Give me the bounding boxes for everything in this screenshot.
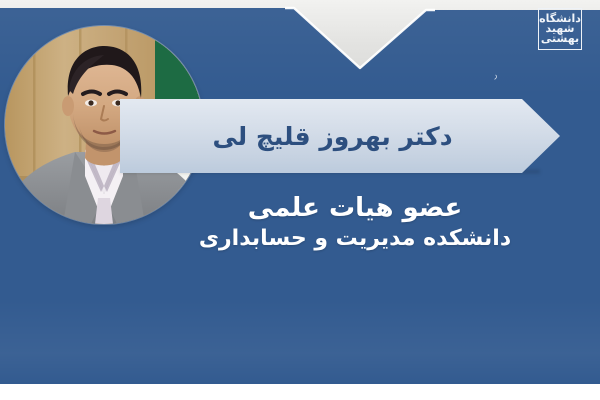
logo-square-frame: دانشگاه شهید بهشتی <box>538 8 582 50</box>
subtitle-faculty: دانشکده مدیریت و حسابداری <box>190 225 520 254</box>
svg-text:روابط عمومی و اطلاع رسانی: روابط عمومی و اطلاع رسانی <box>492 52 499 80</box>
profile-poster: دانشگاه شهید بهشتی روابط عمومی و اطلاع ر… <box>0 0 600 400</box>
university-logo: دانشگاه شهید بهشتی روابط عمومی و اطلاع ر… <box>490 6 590 84</box>
logo-curved-caption: روابط عمومی و اطلاع رسانی <box>492 52 588 82</box>
logo-line-beheshti: بهشتی <box>541 34 579 44</box>
bottom-white-band <box>0 384 600 400</box>
subtitle-role: عضو هیات علمی <box>190 192 520 225</box>
subtitle-block: عضو هیات علمی دانشکده مدیریت و حسابداری <box>190 192 520 253</box>
logo-wordmark: دانشگاه شهید بهشتی <box>539 9 581 49</box>
person-name: دکتر بهروز قلیچ لی <box>200 105 465 167</box>
